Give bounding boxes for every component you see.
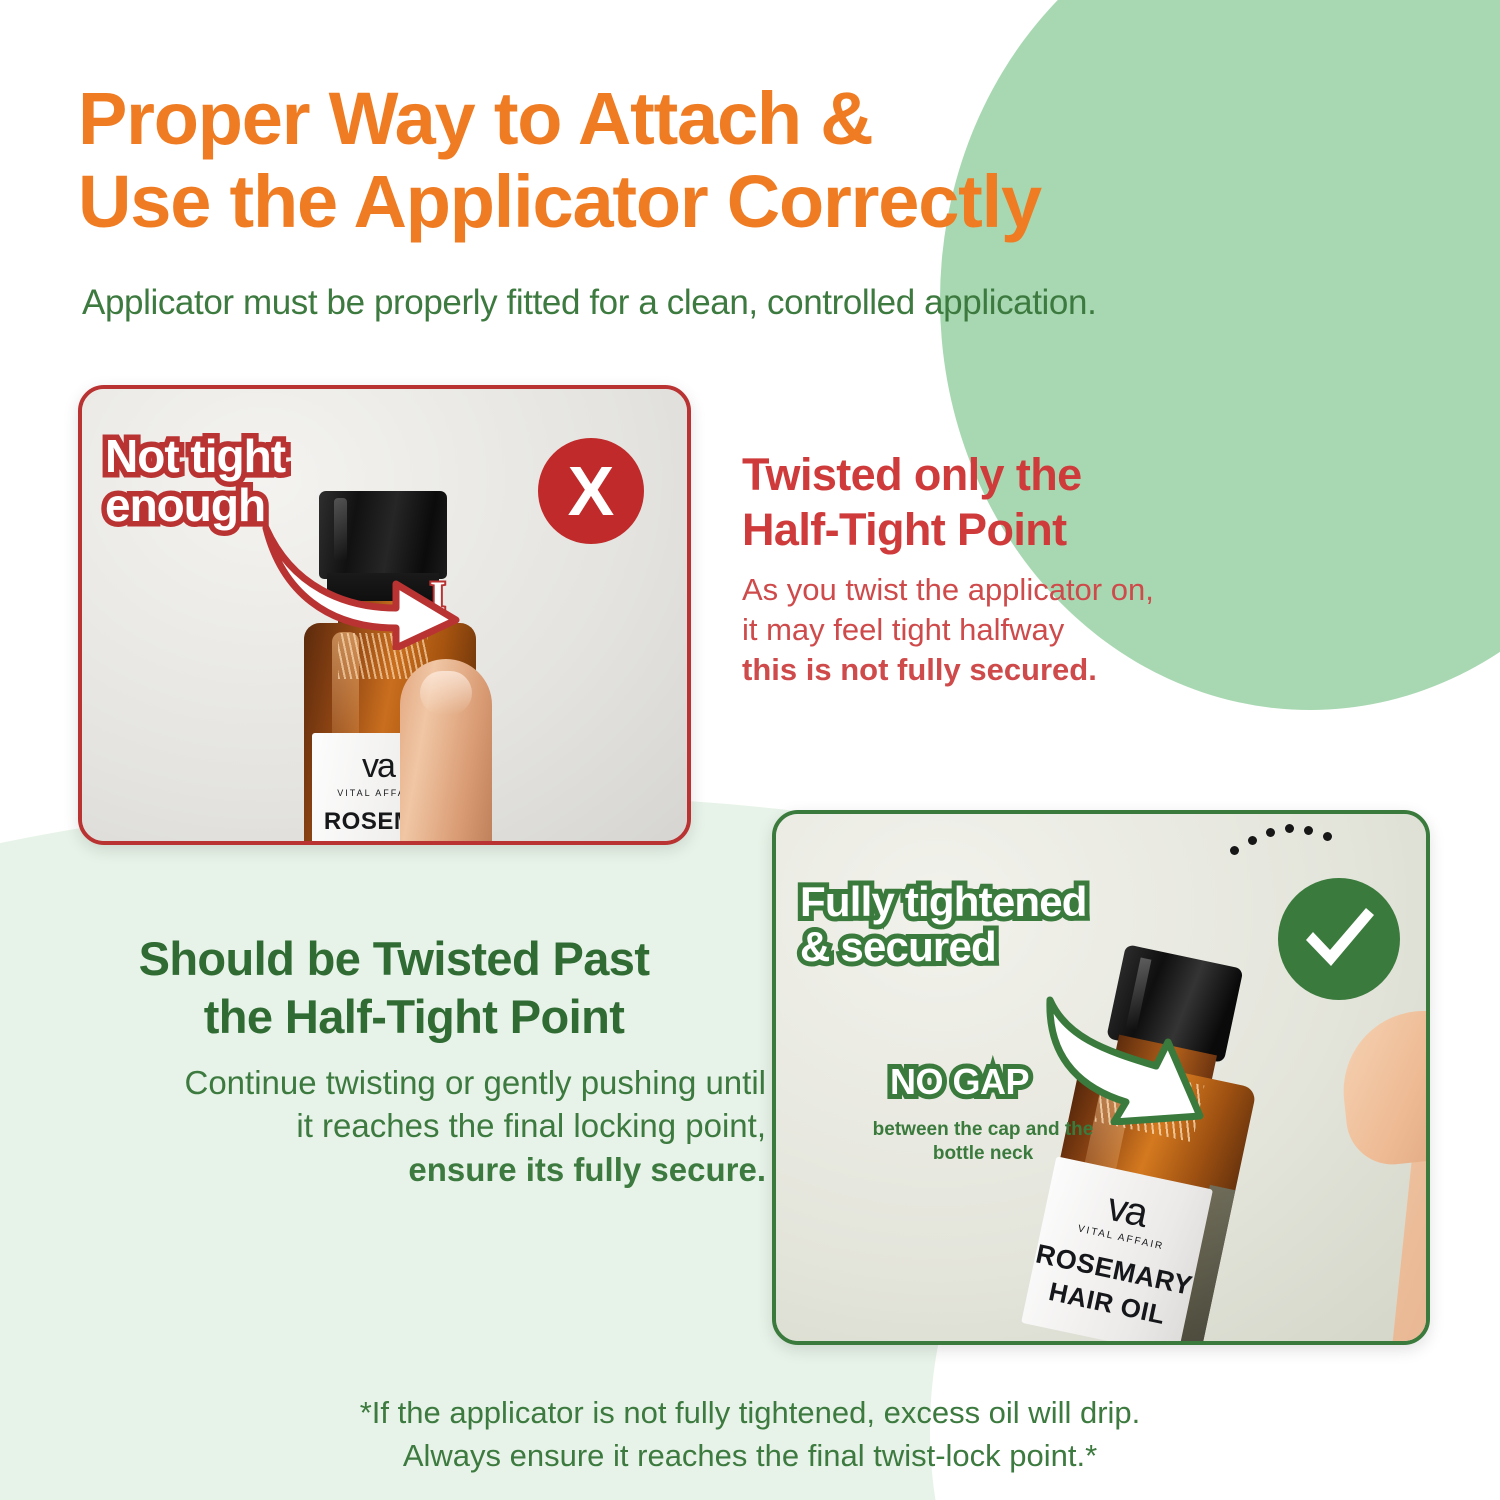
red-body-line-3: this is not fully secured. [742,650,1282,690]
green-text-block: Should be Twisted Past the Half-Tight Po… [22,930,766,1191]
red-text-block: Twisted only the Half-Tight Point As you… [742,448,1282,691]
sticker-no-gap: NO GAP [890,1063,1029,1101]
green-heading-line-1: Should be Twisted Past [22,930,766,988]
sticker-line-1: Not tight [105,432,285,481]
bottle-label: va VITAL AFFAIR ROSEMARY HAIR OIL [1021,1156,1213,1341]
sticker-line-1: Fully tightened [800,880,1087,925]
page-subtitle: Applicator must be properly fitted for a… [82,283,1442,323]
green-body: Continue twisting or gently pushing unti… [22,1061,766,1192]
red-heading-line-2: Half-Tight Point [742,503,1282,558]
infographic-page: Proper Way to Attach & Use the Applicato… [0,0,1500,1500]
red-body: As you twist the applicator on, it may f… [742,570,1282,691]
red-heading: Twisted only the Half-Tight Point [742,448,1282,558]
sticker-line-2: & secured [800,925,1087,970]
no-gap-caption-line-1: between the cap and [873,1119,1060,1140]
thumb [1336,1003,1426,1169]
sticker-not-tight-enough: Not tight enough [105,432,285,530]
no-gap-caption: between the cap and the bottle neck [868,1118,1098,1166]
green-body-line-2: it reaches the final locking point, [22,1104,766,1148]
footnote: *If the applicator is not fully tightene… [0,1392,1500,1478]
red-body-line-1: As you twist the applicator on, [742,570,1282,610]
green-heading: Should be Twisted Past the Half-Tight Po… [22,930,766,1047]
applicator-bristles [1228,820,1348,860]
arrow-pointing-to-no-gap-icon [1040,990,1230,1125]
page-title: Proper Way to Attach & Use the Applicato… [78,78,1308,244]
green-body-line-1: Continue twisting or gently pushing unti… [22,1061,766,1105]
thumb [400,659,492,841]
no-gap-label: NO GAP [890,1063,1029,1101]
footnote-line-2: Always ensure it reaches the final twist… [0,1435,1500,1478]
check-badge-icon [1278,878,1400,1000]
red-body-line-2: it may feel tight halfway [742,610,1282,650]
green-heading-line-2: the Half-Tight Point [22,988,766,1046]
green-body-line-3: ensure its fully secure. [22,1148,766,1192]
arrow-pointing-to-gap-icon [258,520,468,650]
sticker-fully-tightened: Fully tightened & secured [800,880,1087,969]
cross-badge-icon: X [538,438,644,544]
footnote-line-1: *If the applicator is not fully tightene… [0,1392,1500,1435]
page-title-line-1: Proper Way to Attach & [78,78,1308,161]
page-title-line-2: Use the Applicator Correctly [78,161,1308,244]
red-heading-line-1: Twisted only the [742,448,1282,503]
